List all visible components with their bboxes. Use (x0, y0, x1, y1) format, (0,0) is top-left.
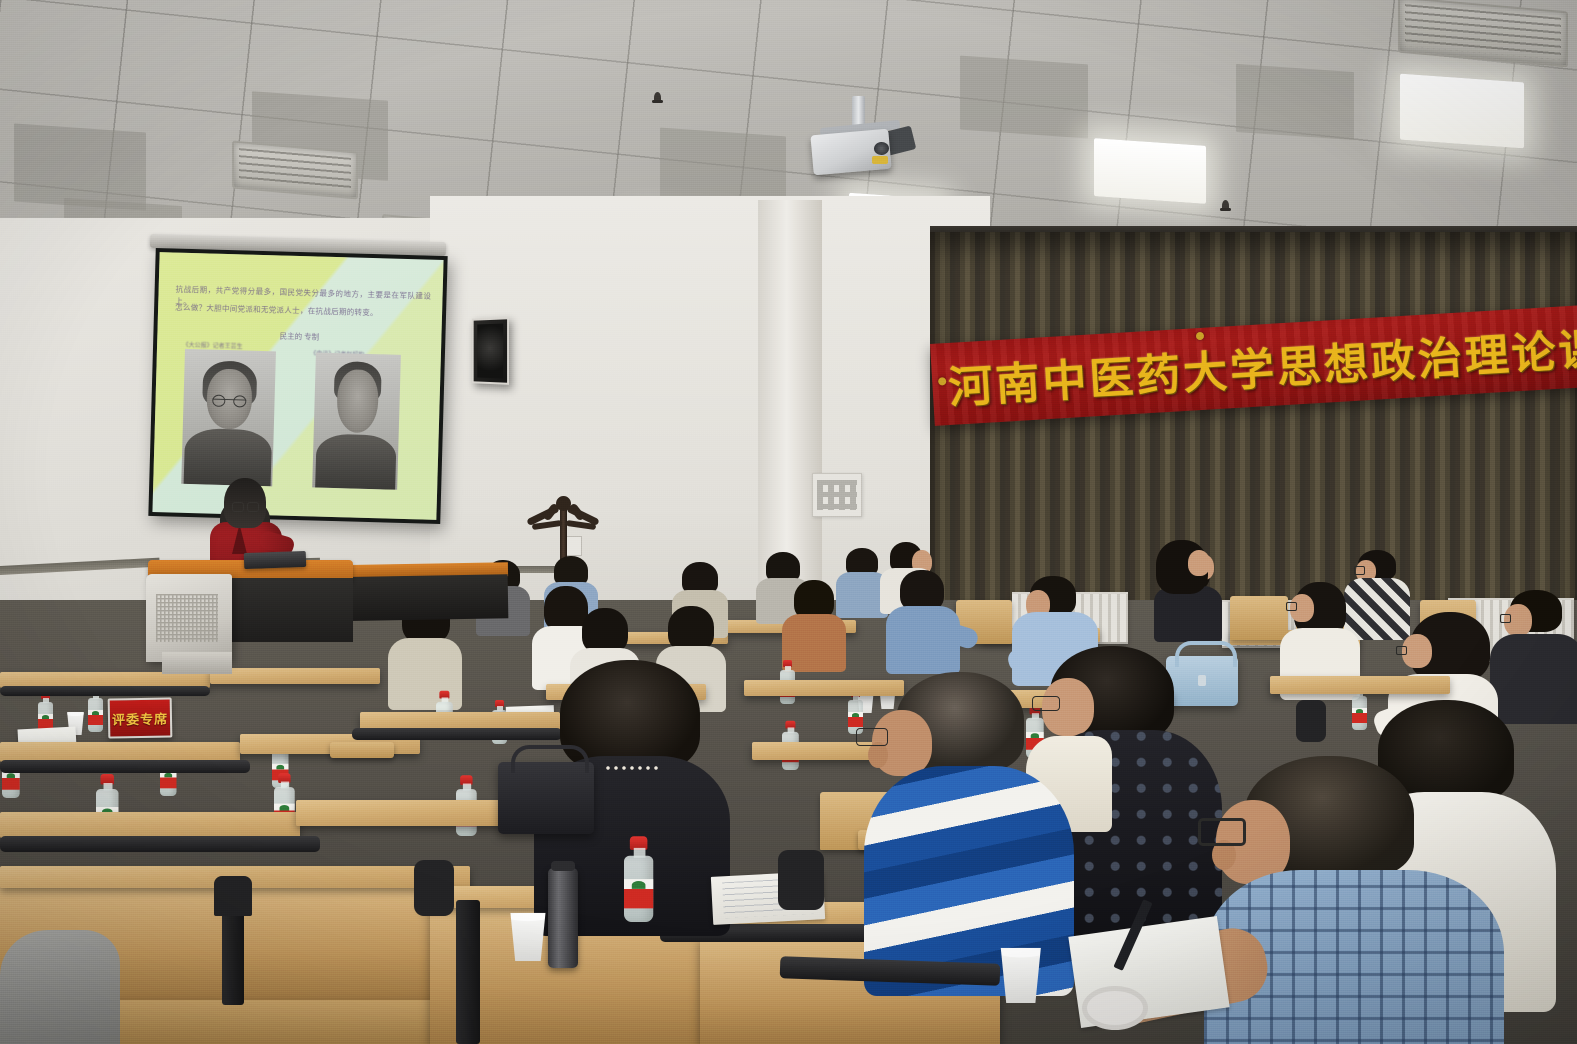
audience-member (0, 930, 120, 1044)
desk-leg (456, 900, 480, 1044)
presenter-glasses (232, 502, 259, 510)
seat[interactable] (330, 742, 394, 758)
water-bottle[interactable] (624, 836, 653, 922)
slide-portrait-right (312, 353, 401, 491)
desk-top (210, 668, 380, 684)
lecture-hall-photo: 抗战后期，共产党得分最多，国民党失分最多的地方，主要是在军队建设上。 怎么做？大… (0, 0, 1577, 1044)
lectern-podium (148, 560, 353, 670)
podium-base (162, 652, 232, 674)
desk-rail (0, 686, 210, 696)
handbag-black[interactable] (498, 762, 594, 834)
wristwatch (1082, 986, 1148, 1030)
pearl-necklace (604, 764, 660, 776)
podium-console[interactable] (146, 574, 232, 662)
desk-top (1270, 676, 1450, 694)
wall-speaker (472, 317, 509, 385)
desk-bracket (1296, 700, 1326, 742)
wall-control-panel[interactable] (812, 473, 862, 517)
ceiling-tile (960, 56, 1088, 139)
ceiling-projector (812, 128, 908, 184)
ceiling-light (1094, 138, 1206, 204)
podium-speaker-grille (156, 594, 218, 642)
handbag-clasp (1198, 675, 1207, 686)
desk-top (0, 812, 300, 838)
ceiling-sprinkler (654, 92, 661, 103)
desk-top (0, 742, 240, 762)
desk-bracket (414, 860, 454, 916)
desk-rail (0, 760, 250, 773)
thermos[interactable] (548, 868, 578, 968)
ceiling-tile (1236, 64, 1354, 140)
projector-cable (872, 156, 888, 164)
projection-screen: 抗战后期，共产党得分最多，国民党失分最多的地方，主要是在军队建设上。 怎么做？大… (148, 248, 447, 524)
seat-back[interactable] (1230, 596, 1288, 640)
ceiling-tile (14, 123, 146, 210)
slide-portrait-left (182, 349, 277, 487)
wall-panel-buttons (817, 480, 857, 510)
judge-placard: 评委专席 (108, 697, 173, 738)
handbag-handle (1175, 641, 1238, 667)
ceiling-light (1400, 74, 1524, 149)
desk-bracket (778, 850, 824, 910)
podium-laptop[interactable] (244, 551, 307, 569)
desk-top (744, 680, 904, 696)
desk-rail (0, 836, 320, 852)
handbag-handle (511, 745, 588, 773)
judge-placard-text: 评委专席 (112, 708, 168, 728)
desk-top (296, 800, 506, 826)
window-curtain (930, 232, 1577, 632)
desk-rail (352, 728, 562, 740)
desk-bracket (214, 876, 252, 916)
handbag-blue[interactable] (1166, 656, 1238, 706)
ceiling-sprinkler (1222, 200, 1229, 211)
projection-screen-surface: 抗战后期，共产党得分最多，国民党失分最多的地方，主要是在军队建设上。 怎么做？大… (152, 252, 443, 520)
